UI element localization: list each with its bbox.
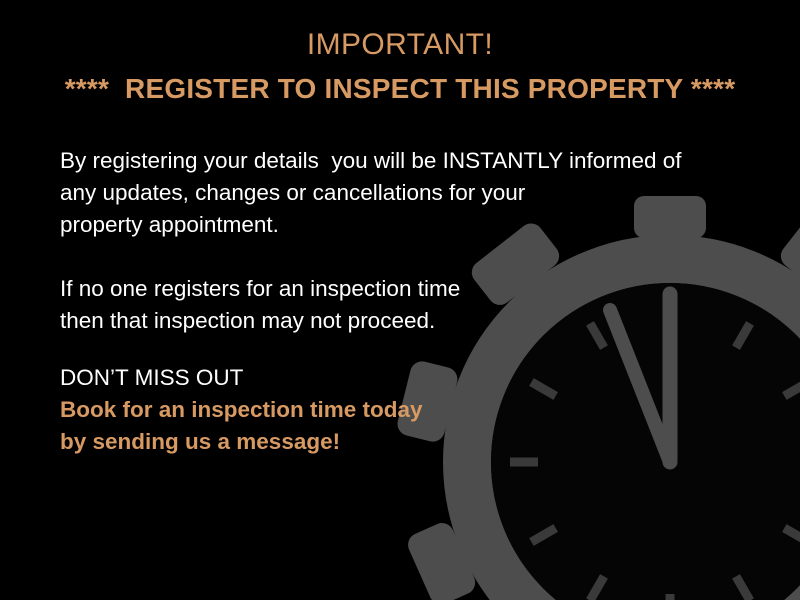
promo-slide: IMPORTANT! **** REGISTER TO INSPECT THIS…: [0, 0, 800, 600]
call-to-action-block: DON’T MISS OUT Book for an inspection ti…: [60, 362, 423, 458]
headline-secondary: **** REGISTER TO INSPECT THIS PROPERTY *…: [0, 74, 800, 105]
slide-content: IMPORTANT! **** REGISTER TO INSPECT THIS…: [0, 0, 800, 600]
body-paragraph-registering: By registering your details you will be …: [60, 145, 682, 241]
cta-line-send-message: by sending us a message!: [60, 426, 423, 458]
body-paragraph-no-registrations: If no one registers for an inspection ti…: [60, 273, 460, 337]
cta-line-dont-miss-out: DON’T MISS OUT: [60, 362, 423, 394]
cta-line-book-inspection: Book for an inspection time today: [60, 394, 423, 426]
headline-primary: IMPORTANT!: [0, 28, 800, 61]
